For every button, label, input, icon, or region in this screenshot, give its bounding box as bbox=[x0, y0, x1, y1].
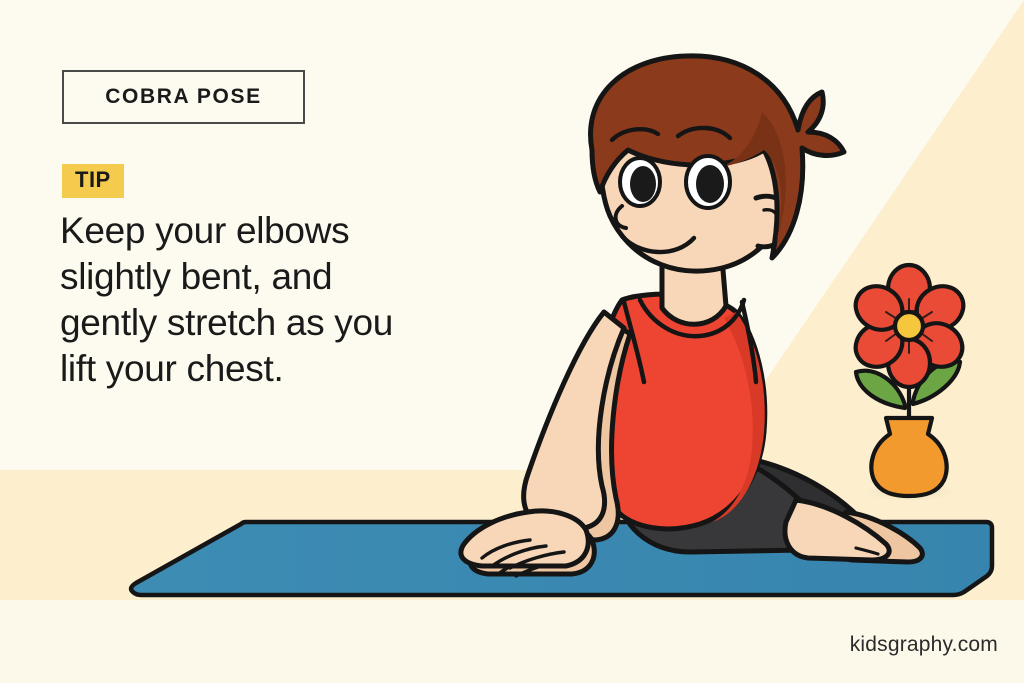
watermark: kidsgraphy.com bbox=[850, 633, 998, 657]
page-title: COBRA POSE bbox=[105, 85, 261, 109]
tip-badge: TIP bbox=[62, 164, 124, 198]
tip-badge-label: TIP bbox=[75, 167, 111, 192]
illustration-card: COBRA POSE TIP Keep your elbows slightly… bbox=[0, 0, 1024, 683]
pose-title-box: COBRA POSE bbox=[62, 70, 305, 124]
tip-body-text: Keep your elbows slightly bent, and gent… bbox=[60, 208, 430, 392]
